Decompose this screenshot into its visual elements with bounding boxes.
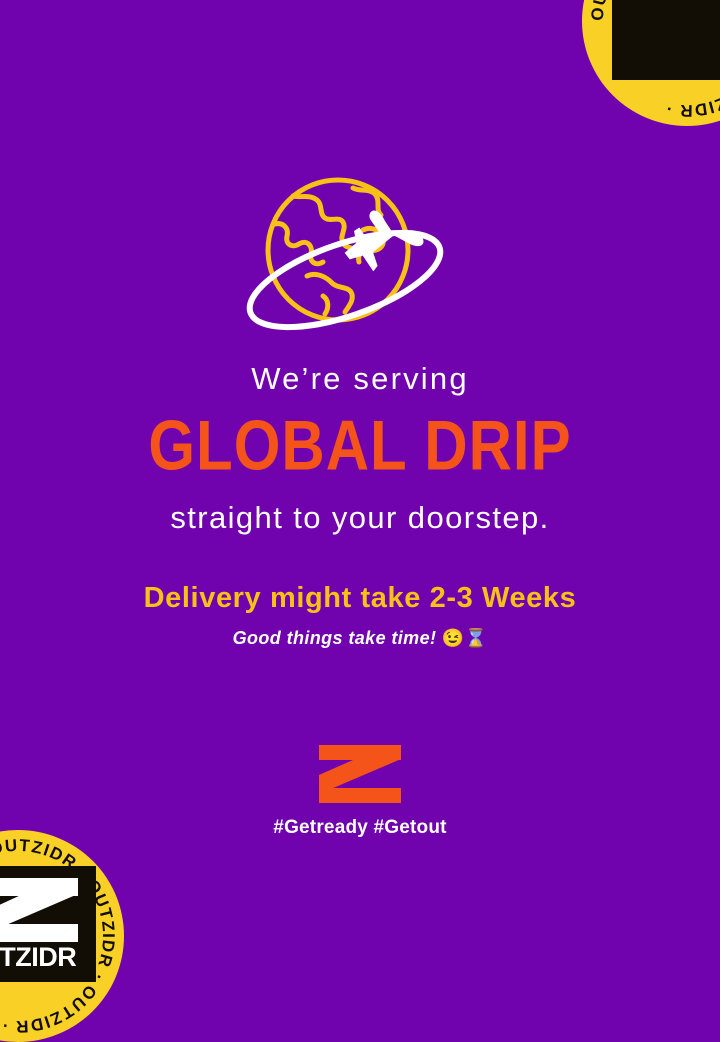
eyebrow-text: We’re serving [0, 362, 720, 396]
badge-letter-icon-top-right [641, 0, 720, 73]
globe-plane-illustration [235, 172, 485, 344]
copy-block: We’re serving GLOBAL DRIP straight to yo… [0, 362, 720, 649]
tagline-text: Good things take time! [233, 628, 437, 648]
badge-core-top-right [612, 0, 720, 80]
badge-core-bottom-left: OUTZIDR [0, 866, 96, 982]
brand-badge-top-right: OUTZIDR · OUTZIDR · OUTZIDR · OUTZIDR · [582, 0, 720, 126]
page-title: GLOBAL DRIP [0, 408, 720, 482]
brand-badge-bottom-left: OUTZIDR · OUTZIDR · OUTZIDR · OUTZIDR · … [0, 830, 124, 1042]
z-logo-icon [319, 745, 401, 803]
poster-canvas: { "colors": { "background_purple": "#700… [0, 0, 720, 960]
footer-block: #Getready #Getout [0, 745, 720, 839]
hashtags: #Getready #Getout [0, 817, 720, 839]
subline-text: straight to your doorstep. [0, 501, 720, 535]
badge-wordmark-bottom-left: OUTZIDR [0, 944, 76, 971]
tagline: Good things take time! 😉⌛ [0, 629, 720, 649]
tagline-emoji: 😉⌛ [442, 628, 488, 648]
badge-letter-icon-bottom-left [0, 878, 82, 942]
delivery-estimate: Delivery might take 2-3 Weeks [0, 583, 720, 615]
hero-illustration [0, 172, 720, 344]
